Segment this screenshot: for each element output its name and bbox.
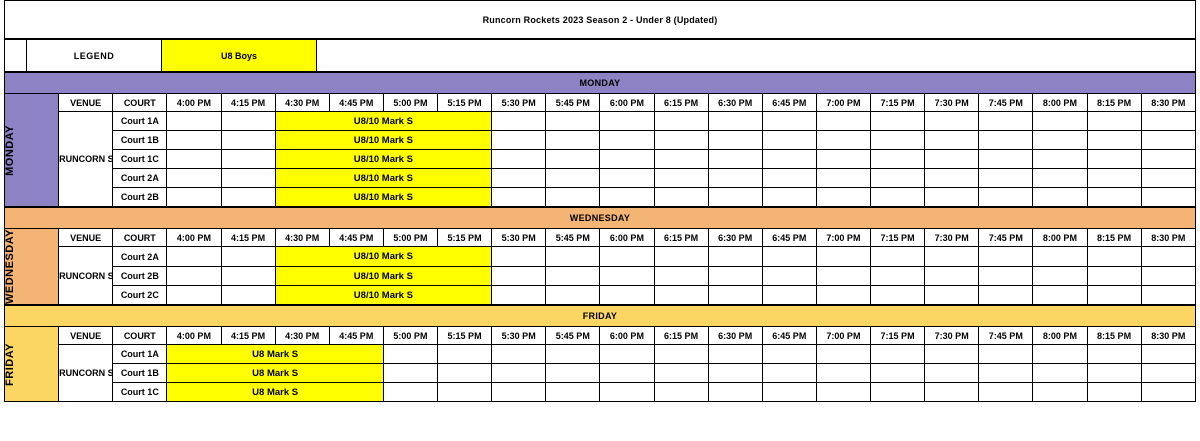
empty-slot[interactable] [1033,383,1087,402]
empty-slot[interactable] [925,112,979,131]
empty-slot[interactable] [871,247,925,267]
venue-cell: RUNCORN SHS HALL [59,112,113,207]
day-band-wednesday: WEDNESDAY [5,208,1196,229]
court-row: Court 2BU8/10 Mark S [5,267,1196,286]
court-cell: Court 1B [113,131,167,150]
empty-slot[interactable] [167,286,221,305]
empty-slot[interactable] [1141,383,1195,402]
court-cell: Court 1A [113,345,167,364]
day-side-label-monday: MONDAY [5,94,59,207]
court-row: Court 1BU8/10 Mark S [5,131,1196,150]
empty-slot[interactable] [979,247,1033,267]
empty-slot[interactable] [221,169,275,188]
empty-slot[interactable] [221,112,275,131]
court-column-header: COURT [113,327,167,345]
empty-slot[interactable] [762,247,816,267]
booking-slot[interactable]: U8 Mark S [167,345,384,364]
empty-slot[interactable] [708,267,762,286]
empty-slot[interactable] [925,286,979,305]
day-band-row: FRIDAY [5,306,1196,327]
time-column-header: 6:00 PM [600,94,654,112]
page-title: Runcorn Rockets 2023 Season 2 - Under 8 … [5,1,1196,39]
empty-slot[interactable] [1141,131,1195,150]
column-header-row: MONDAYVENUECOURT4:00 PM4:15 PM4:30 PM4:4… [5,94,1196,112]
time-column-header: 8:30 PM [1141,327,1195,345]
booking-slot[interactable]: U8/10 Mark S [275,112,492,131]
court-column-header: COURT [113,229,167,247]
empty-slot[interactable] [871,131,925,150]
time-column-header: 6:30 PM [708,94,762,112]
empty-slot[interactable] [708,383,762,402]
time-column-header: 4:15 PM [221,94,275,112]
court-row: RUNCORN SHS HALLCourt 2AU8/10 Mark S [5,247,1196,267]
legend-swatch-u8-boys: U8 Boys [162,40,317,72]
empty-slot[interactable] [492,169,546,188]
empty-slot[interactable] [708,131,762,150]
empty-slot[interactable] [492,112,546,131]
empty-slot[interactable] [546,286,600,305]
empty-slot[interactable] [816,345,870,364]
empty-slot[interactable] [1141,169,1195,188]
time-column-header: 5:45 PM [546,327,600,345]
empty-slot[interactable] [438,364,492,383]
empty-slot[interactable] [383,345,437,364]
empty-slot[interactable] [492,150,546,169]
court-cell: Court 2B [113,267,167,286]
empty-slot[interactable] [221,131,275,150]
empty-slot[interactable] [1141,188,1195,207]
court-row: Court 1CU8/10 Mark S [5,150,1196,169]
court-row: Court 2CU8/10 Mark S [5,286,1196,305]
time-column-header: 6:15 PM [654,327,708,345]
empty-slot[interactable] [816,169,870,188]
legend-row: LEGEND U8 Boys [5,40,1196,72]
booking-slot[interactable]: U8/10 Mark S [275,150,492,169]
empty-slot[interactable] [492,131,546,150]
court-cell: Court 2B [113,188,167,207]
time-column-header: 7:00 PM [816,229,870,247]
time-column-header: 8:30 PM [1141,94,1195,112]
booking-slot[interactable]: U8 Mark S [167,364,384,383]
time-column-header: 8:15 PM [1087,94,1141,112]
court-cell: Court 2C [113,286,167,305]
empty-slot[interactable] [816,150,870,169]
empty-slot[interactable] [167,188,221,207]
schedule-page: Runcorn Rockets 2023 Season 2 - Under 8 … [0,0,1200,441]
empty-slot[interactable] [546,383,600,402]
time-column-header: 4:00 PM [167,94,221,112]
empty-slot[interactable] [492,188,546,207]
empty-slot[interactable] [438,345,492,364]
time-column-header: 4:00 PM [167,229,221,247]
time-column-header: 5:30 PM [492,94,546,112]
empty-slot[interactable] [871,169,925,188]
empty-slot[interactable] [1141,345,1195,364]
empty-slot[interactable] [654,267,708,286]
empty-slot[interactable] [1087,169,1141,188]
empty-slot[interactable] [546,247,600,267]
empty-slot[interactable] [708,188,762,207]
empty-slot[interactable] [492,286,546,305]
venue-cell: RUNCORN SHS HALL [59,247,113,305]
empty-slot[interactable] [1033,131,1087,150]
empty-slot[interactable] [167,131,221,150]
empty-slot[interactable] [654,247,708,267]
empty-slot[interactable] [600,131,654,150]
booking-slot[interactable]: U8 Mark S [167,383,384,402]
legend-table: LEGEND U8 Boys [4,39,1196,72]
empty-slot[interactable] [600,112,654,131]
empty-slot[interactable] [762,383,816,402]
time-column-header: 6:00 PM [600,229,654,247]
empty-slot[interactable] [762,267,816,286]
empty-slot[interactable] [546,267,600,286]
empty-slot[interactable] [600,286,654,305]
time-column-header: 8:15 PM [1087,229,1141,247]
time-column-header: 7:45 PM [979,229,1033,247]
day-table-monday: MONDAYMONDAYVENUECOURT4:00 PM4:15 PM4:30… [4,72,1196,207]
empty-slot[interactable] [167,150,221,169]
empty-slot[interactable] [438,383,492,402]
empty-slot[interactable] [925,267,979,286]
empty-slot[interactable] [1033,286,1087,305]
empty-slot[interactable] [546,150,600,169]
empty-slot[interactable] [492,345,546,364]
venue-column-header: VENUE [59,327,113,345]
empty-slot[interactable] [492,267,546,286]
empty-slot[interactable] [654,364,708,383]
time-column-header: 6:15 PM [654,94,708,112]
empty-slot[interactable] [762,131,816,150]
empty-slot[interactable] [1141,364,1195,383]
booking-slot[interactable]: U8/10 Mark S [275,169,492,188]
empty-slot[interactable] [221,150,275,169]
empty-slot[interactable] [1087,345,1141,364]
court-row: Court 2BU8/10 Mark S [5,188,1196,207]
title-row: Runcorn Rockets 2023 Season 2 - Under 8 … [5,1,1196,39]
time-column-header: 4:30 PM [275,229,329,247]
empty-slot[interactable] [871,383,925,402]
empty-slot[interactable] [1033,169,1087,188]
court-cell: Court 2A [113,247,167,267]
time-column-header: 4:15 PM [221,327,275,345]
empty-slot[interactable] [654,112,708,131]
empty-slot[interactable] [1087,112,1141,131]
empty-slot[interactable] [816,383,870,402]
empty-slot[interactable] [762,364,816,383]
day-band-row: WEDNESDAY [5,208,1196,229]
empty-slot[interactable] [546,169,600,188]
empty-slot[interactable] [762,286,816,305]
empty-slot[interactable] [383,364,437,383]
time-column-header: 6:30 PM [708,229,762,247]
empty-slot[interactable] [492,383,546,402]
booking-slot[interactable]: U8/10 Mark S [275,267,492,286]
empty-slot[interactable] [871,345,925,364]
empty-slot[interactable] [762,169,816,188]
time-column-header: 4:00 PM [167,327,221,345]
time-column-header: 6:00 PM [600,327,654,345]
time-column-header: 6:45 PM [762,327,816,345]
empty-slot[interactable] [762,345,816,364]
empty-slot[interactable] [979,267,1033,286]
empty-slot[interactable] [979,169,1033,188]
empty-slot[interactable] [925,169,979,188]
empty-slot[interactable] [816,286,870,305]
empty-slot[interactable] [979,131,1033,150]
empty-slot[interactable] [762,112,816,131]
empty-slot[interactable] [925,247,979,267]
court-row: Court 1BU8 Mark S [5,364,1196,383]
empty-slot[interactable] [654,383,708,402]
empty-slot[interactable] [221,286,275,305]
time-column-header: 6:45 PM [762,229,816,247]
day-table-wednesday: WEDNESDAYWEDNESDAYVENUECOURT4:00 PM4:15 … [4,207,1196,305]
empty-slot[interactable] [1033,345,1087,364]
time-column-header: 7:15 PM [871,327,925,345]
day-side-label-text: FRIDAY [5,343,16,386]
time-column-header: 8:30 PM [1141,229,1195,247]
empty-slot[interactable] [654,169,708,188]
time-column-header: 4:45 PM [329,327,383,345]
day-band-row: MONDAY [5,73,1196,94]
empty-slot[interactable] [654,131,708,150]
empty-slot[interactable] [871,112,925,131]
empty-slot[interactable] [979,383,1033,402]
empty-slot[interactable] [762,150,816,169]
booking-slot[interactable]: U8/10 Mark S [275,247,492,267]
empty-slot[interactable] [600,247,654,267]
empty-slot[interactable] [167,267,221,286]
empty-slot[interactable] [167,247,221,267]
empty-slot[interactable] [600,150,654,169]
empty-slot[interactable] [221,247,275,267]
time-column-header: 5:30 PM [492,229,546,247]
time-column-header: 6:45 PM [762,94,816,112]
time-column-header: 5:00 PM [383,327,437,345]
empty-slot[interactable] [1141,247,1195,267]
empty-slot[interactable] [816,247,870,267]
empty-slot[interactable] [708,112,762,131]
time-column-header: 8:15 PM [1087,327,1141,345]
day-side-label-text: WEDNESDAY [5,229,16,304]
empty-slot[interactable] [1087,131,1141,150]
empty-slot[interactable] [221,267,275,286]
empty-slot[interactable] [925,364,979,383]
booking-slot[interactable]: U8/10 Mark S [275,286,492,305]
legend-title: LEGEND [27,40,162,72]
empty-slot[interactable] [1141,150,1195,169]
empty-slot[interactable] [979,188,1033,207]
empty-slot[interactable] [167,112,221,131]
empty-slot[interactable] [546,188,600,207]
empty-slot[interactable] [816,364,870,383]
empty-slot[interactable] [708,286,762,305]
empty-slot[interactable] [600,345,654,364]
court-column-header: COURT [113,94,167,112]
time-column-header: 7:00 PM [816,94,870,112]
empty-slot[interactable] [1087,247,1141,267]
court-cell: Court 1C [113,383,167,402]
legend-empty [317,40,1196,72]
empty-slot[interactable] [762,188,816,207]
empty-slot[interactable] [979,150,1033,169]
empty-slot[interactable] [1087,188,1141,207]
empty-slot[interactable] [925,131,979,150]
empty-slot[interactable] [492,364,546,383]
time-column-header: 5:00 PM [383,94,437,112]
empty-slot[interactable] [816,112,870,131]
empty-slot[interactable] [871,364,925,383]
venue-column-header: VENUE [59,229,113,247]
time-column-header: 7:15 PM [871,94,925,112]
venue-cell: RUNCORN SHS HALL [59,345,113,402]
empty-slot[interactable] [979,345,1033,364]
empty-slot[interactable] [546,131,600,150]
empty-slot[interactable] [654,286,708,305]
time-column-header: 7:00 PM [816,327,870,345]
empty-slot[interactable] [871,188,925,207]
empty-slot[interactable] [1141,267,1195,286]
time-column-header: 4:45 PM [329,229,383,247]
empty-slot[interactable] [925,345,979,364]
empty-slot[interactable] [979,286,1033,305]
empty-slot[interactable] [600,364,654,383]
court-cell: Court 1C [113,150,167,169]
empty-slot[interactable] [871,267,925,286]
empty-slot[interactable] [1087,364,1141,383]
empty-slot[interactable] [1033,364,1087,383]
time-column-header: 5:00 PM [383,229,437,247]
day-table-friday: FRIDAYFRIDAYVENUECOURT4:00 PM4:15 PM4:30… [4,305,1196,402]
empty-slot[interactable] [654,188,708,207]
time-column-header: 5:45 PM [546,94,600,112]
empty-slot[interactable] [871,150,925,169]
empty-slot[interactable] [654,345,708,364]
empty-slot[interactable] [1033,267,1087,286]
time-column-header: 7:30 PM [925,327,979,345]
time-column-header: 5:15 PM [438,94,492,112]
empty-slot[interactable] [816,131,870,150]
court-row: RUNCORN SHS HALLCourt 1AU8 Mark S [5,345,1196,364]
empty-slot[interactable] [708,345,762,364]
court-cell: Court 2A [113,169,167,188]
title-table: Runcorn Rockets 2023 Season 2 - Under 8 … [4,0,1196,39]
court-cell: Court 1A [113,112,167,131]
booking-slot[interactable]: U8/10 Mark S [275,188,492,207]
empty-slot[interactable] [925,150,979,169]
empty-slot[interactable] [654,150,708,169]
court-row: Court 2AU8/10 Mark S [5,169,1196,188]
day-band-monday: MONDAY [5,73,1196,94]
empty-slot[interactable] [816,188,870,207]
time-column-header: 6:15 PM [654,229,708,247]
day-side-label-friday: FRIDAY [5,327,59,402]
time-column-header: 4:30 PM [275,327,329,345]
time-column-header: 7:15 PM [871,229,925,247]
time-column-header: 5:15 PM [438,327,492,345]
time-column-header: 7:45 PM [979,94,1033,112]
empty-slot[interactable] [708,169,762,188]
time-column-header: 8:00 PM [1033,229,1087,247]
booking-slot[interactable]: U8/10 Mark S [275,131,492,150]
empty-slot[interactable] [979,364,1033,383]
column-header-row: FRIDAYVENUECOURT4:00 PM4:15 PM4:30 PM4:4… [5,327,1196,345]
time-column-header: 4:45 PM [329,94,383,112]
column-header-row: WEDNESDAYVENUECOURT4:00 PM4:15 PM4:30 PM… [5,229,1196,247]
empty-slot[interactable] [221,188,275,207]
court-row: Court 1CU8 Mark S [5,383,1196,402]
empty-slot[interactable] [600,383,654,402]
day-side-label-text: MONDAY [5,125,16,176]
time-column-header: 6:30 PM [708,327,762,345]
day-band-friday: FRIDAY [5,306,1196,327]
empty-slot[interactable] [1141,112,1195,131]
empty-slot[interactable] [1033,150,1087,169]
court-row: RUNCORN SHS HALLCourt 1AU8/10 Mark S [5,112,1196,131]
time-column-header: 4:30 PM [275,94,329,112]
empty-slot[interactable] [1033,112,1087,131]
day-sections: MONDAYMONDAYVENUECOURT4:00 PM4:15 PM4:30… [0,72,1200,402]
time-column-header: 5:30 PM [492,327,546,345]
empty-slot[interactable] [925,383,979,402]
time-column-header: 8:00 PM [1033,94,1087,112]
empty-slot[interactable] [1087,286,1141,305]
time-column-header: 7:30 PM [925,94,979,112]
empty-slot[interactable] [546,345,600,364]
empty-slot[interactable] [167,169,221,188]
empty-slot[interactable] [1087,267,1141,286]
time-column-header: 5:45 PM [546,229,600,247]
empty-slot[interactable] [383,383,437,402]
empty-slot[interactable] [925,188,979,207]
time-column-header: 7:30 PM [925,229,979,247]
time-column-header: 4:15 PM [221,229,275,247]
empty-slot[interactable] [546,112,600,131]
empty-slot[interactable] [546,364,600,383]
time-column-header: 8:00 PM [1033,327,1087,345]
empty-slot[interactable] [1033,247,1087,267]
empty-slot[interactable] [1087,383,1141,402]
empty-slot[interactable] [708,364,762,383]
empty-slot[interactable] [492,247,546,267]
time-column-header: 7:45 PM [979,327,1033,345]
court-cell: Court 1B [113,364,167,383]
empty-slot[interactable] [708,150,762,169]
empty-slot[interactable] [871,286,925,305]
legend-gutter [5,40,27,72]
empty-slot[interactable] [979,112,1033,131]
empty-slot[interactable] [600,169,654,188]
empty-slot[interactable] [1141,286,1195,305]
empty-slot[interactable] [600,267,654,286]
empty-slot[interactable] [1033,188,1087,207]
empty-slot[interactable] [816,267,870,286]
empty-slot[interactable] [1087,150,1141,169]
day-side-label-wednesday: WEDNESDAY [5,229,59,305]
venue-column-header: VENUE [59,94,113,112]
time-column-header: 5:15 PM [438,229,492,247]
empty-slot[interactable] [708,247,762,267]
empty-slot[interactable] [600,188,654,207]
